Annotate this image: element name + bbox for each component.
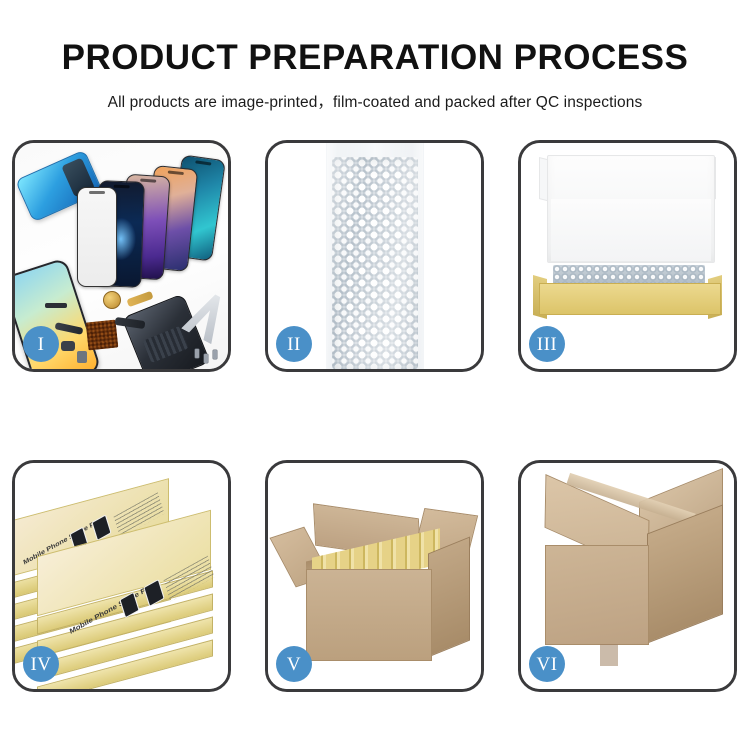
step-badge-3: III [529,326,565,362]
carton-side-panel [428,537,470,658]
earpiece-speaker-icon [45,303,67,308]
step-badge-1: I [23,326,59,362]
header: PRODUCT PREPARATION PROCESS All products… [0,0,750,112]
step-badge-4: IV [23,646,59,682]
carton-front-panel [306,569,432,661]
steps-row-1: I II [12,140,738,372]
plastic-sheen [327,143,423,369]
step-panel-carton-filled[interactable]: V [265,460,484,692]
sim-tray-icon [77,351,87,363]
step-panel-carton-sealed[interactable]: VI [518,460,737,692]
screws-icon [195,349,225,367]
page-subtitle: All products are image-printed，film-coat… [0,90,750,112]
product-preparation-infographic: PRODUCT PREPARATION PROCESS All products… [0,0,750,750]
step-badge-2: II [276,326,312,362]
connector-grid-icon [86,320,119,351]
phone-glass-icon [77,187,117,287]
camera-module-icon [61,341,75,351]
step-panel-product-parts[interactable]: I [12,140,231,372]
carton-front-panel [545,545,649,645]
carton-handle-tab [600,644,618,666]
steps-row-2: Mobile Phone Spare Parts Mobile Phone Sp… [12,460,738,692]
step-panel-stacked-boxes[interactable]: Mobile Phone Spare Parts Mobile Phone Sp… [12,460,231,692]
step-badge-6: VI [529,646,565,682]
steps-grid: I II [12,140,738,750]
step-panel-bubble-wrap[interactable]: II [265,140,484,372]
flex-cable-icon [126,291,153,307]
phone-fan-group [71,155,228,275]
page-title: PRODUCT PREPARATION PROCESS [0,38,750,78]
vibration-motor-icon [103,291,121,309]
step-badge-5: V [276,646,312,682]
step-panel-inner-box[interactable]: III [518,140,737,372]
box-tray-icon [539,283,721,315]
foam-insert-icon [551,199,711,261]
